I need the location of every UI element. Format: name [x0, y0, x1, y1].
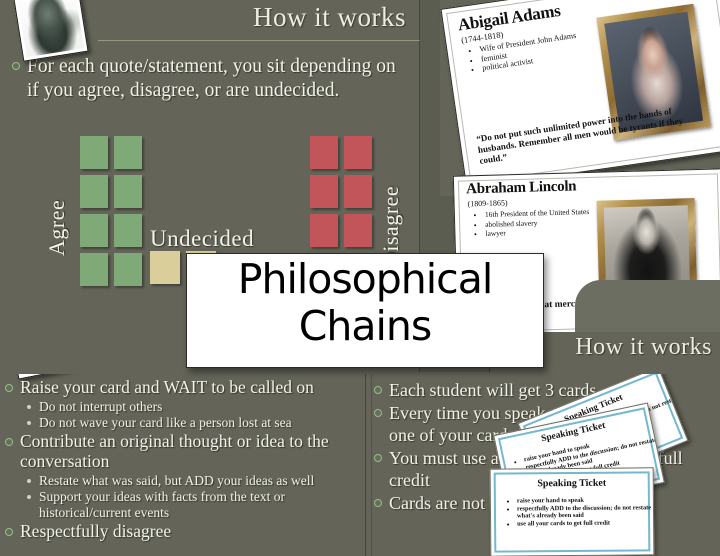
seat-disagree: [310, 214, 338, 247]
person-facts: 16th President of the United States abol…: [475, 207, 592, 239]
seat-agree: [80, 214, 108, 247]
main-title-line-1: Philosophical: [187, 256, 543, 302]
ticket-heading: Speaking Ticket: [491, 477, 653, 489]
ticket-item: use all your cards to get full credit: [517, 519, 654, 528]
seat-agree: [80, 136, 108, 169]
slide-cards: Each student will get 3 cards Every time…: [372, 374, 720, 556]
seat-disagree: [310, 136, 338, 169]
rules-subbullet: Support your ideas with facts from the t…: [3, 489, 347, 521]
slide-rules: Raise your card and WAIT to be called on…: [0, 374, 366, 556]
label-undecided: Undecided: [150, 226, 254, 252]
rules-bullet-list: Raise your card and WAIT to be called on…: [3, 377, 363, 542]
slide-collage: How it works For each quote/statement, y…: [0, 0, 720, 556]
seat-disagree: [310, 175, 338, 208]
person-name: Abraham Lincoln: [466, 178, 577, 198]
seat-agree: [80, 253, 108, 286]
seat-agree: [114, 214, 142, 247]
thinker-figure: [11, 374, 76, 375]
title-divider: [98, 40, 420, 41]
slide-title-how-it-works: How it works: [253, 2, 406, 33]
person-dates: (1809-1865): [467, 198, 507, 208]
rules-subbullet: Do not interrupt others: [3, 399, 363, 415]
thinker-figure: [18, 0, 84, 57]
panel-corner-shade: [575, 280, 720, 340]
rules-subbullet: Restate what was said, but ADD your idea…: [3, 473, 339, 489]
seat-agree: [114, 253, 142, 286]
seat-disagree: [344, 214, 372, 247]
seat-undecided: [150, 251, 180, 284]
main-title-line-2: Chains: [187, 302, 543, 350]
rules-subbullet: Do not wave your card like a person lost…: [3, 415, 363, 431]
speaking-ticket-front: Speaking Ticket raise your hand to speak…: [490, 467, 655, 556]
label-agree: Agree: [44, 200, 70, 256]
slide-title-cards: How it works: [575, 334, 712, 361]
thinker-photo: [13, 0, 88, 62]
seat-agree: [114, 175, 142, 208]
seat-disagree: [344, 136, 372, 169]
rules-bullet: Contribute an original thought or idea t…: [3, 431, 354, 472]
ticket-item: respectfully ADD to the discussion; do n…: [517, 504, 654, 520]
seat-agree: [114, 136, 142, 169]
seat-agree: [80, 175, 108, 208]
main-title-box: Philosophical Chains: [186, 253, 544, 368]
seat-disagree: [344, 175, 372, 208]
how-it-works-bullet-1: For each quote/statement, you sit depend…: [10, 55, 409, 103]
rules-bullet: Raise your card and WAIT to be called on: [3, 377, 363, 398]
ticket-items: raise your hand to speak respectfully AD…: [497, 496, 655, 528]
bottom-panel-divider: [365, 374, 366, 556]
rules-bullet: Respectfully disagree: [3, 521, 363, 542]
